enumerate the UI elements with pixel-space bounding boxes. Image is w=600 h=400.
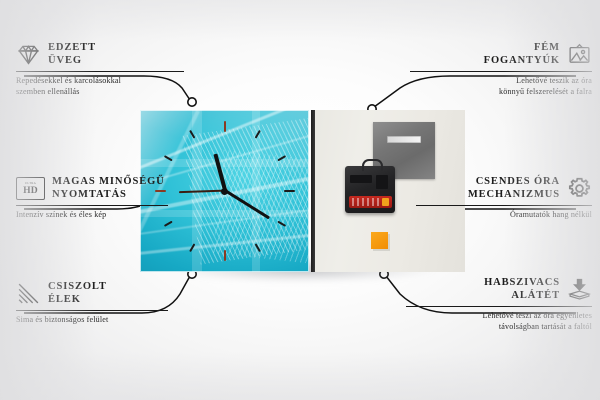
callout-title-line1: CSENDES ÓRA [476, 176, 560, 187]
battery [349, 196, 392, 208]
callout-sub-line1: Intenzív színek és éles kép [16, 210, 106, 219]
clock-hour-hand [213, 154, 226, 192]
callout-rule [16, 205, 168, 206]
callout-sub-line1: Sima és biztonságos felület [16, 315, 108, 324]
callout-rule [410, 71, 592, 72]
callout-metal-hooks: FÉM FOGANTYÚK Lehetővé teszik az óra kön… [410, 42, 592, 97]
picture-frame-icon [567, 42, 592, 67]
polished-edge-icon [16, 281, 41, 306]
callout-rule [16, 71, 184, 72]
foam-pad [371, 232, 388, 249]
callout-title-line2: ALÁTÉT [511, 290, 560, 301]
quartz-mechanism [345, 166, 395, 213]
callout-title-line2: ÉLEK [48, 294, 81, 305]
callout-title-line1: EDZETT [48, 42, 96, 53]
callout-rule [16, 310, 168, 311]
callout-sub-line2: szemben ellenállás [16, 87, 80, 96]
callout-rule [406, 306, 592, 307]
callout-polished-edges: CSISZOLT ÉLEK Sima és biztonságos felüle… [16, 281, 168, 326]
clock-second-hand [179, 190, 225, 193]
callout-silent-mechanism: CSENDES ÓRA MECHANIZMUS Óramutatók hang … [416, 176, 592, 221]
callout-title-line2: MECHANIZMUS [468, 189, 560, 200]
callout-hd-print: ultra HD MAGAS MINŐSÉGŰ NYOMTATÁS Intenz… [16, 176, 168, 221]
callout-tempered-glass: EDZETT ÜVEG Repedésekkel és karcolásokka… [16, 42, 184, 97]
callout-title-line2: NYOMTATÁS [52, 189, 127, 200]
ultra-hd-icon-main: HD [23, 186, 38, 196]
callout-title-line1: MAGAS MINŐSÉGŰ [52, 176, 165, 187]
clock-minute-hand [224, 190, 270, 220]
callout-sub-line1: Lehetővé teszik az óra [516, 76, 592, 85]
callout-title-line1: HABSZIVACS [484, 277, 560, 288]
callout-sub-line1: Repedésekkel és karcolásokkal [16, 76, 121, 85]
infographic-canvas: EDZETT ÜVEG Repedésekkel és karcolásokka… [0, 0, 600, 400]
callout-title-line2: ÜVEG [48, 55, 82, 66]
callout-rule [416, 205, 592, 206]
callout-title-line2: FOGANTYÚK [484, 55, 560, 66]
callout-sub-line1: Óramutatók hang nélkül [510, 210, 592, 219]
callout-title-line1: FÉM [534, 42, 560, 53]
diamond-icon [16, 42, 41, 67]
callout-sub-line1: Lehetővé teszi az óra egyenletes [482, 311, 592, 320]
callout-foam-pad: HABSZIVACS ALÁTÉT Lehetővé teszi az óra … [406, 277, 592, 332]
callout-sub-line2: távolságban tartását a faltól [499, 322, 592, 331]
ultra-hd-icon: ultra HD [16, 177, 45, 200]
callout-sub-line2: könnyű felszerelését a falra [499, 87, 592, 96]
gear-icon [567, 176, 592, 201]
clock-center-cap [221, 188, 228, 195]
foam-pad-icon [567, 277, 592, 302]
callout-title-line1: CSISZOLT [48, 281, 107, 292]
wire-dot-glass [188, 98, 196, 106]
